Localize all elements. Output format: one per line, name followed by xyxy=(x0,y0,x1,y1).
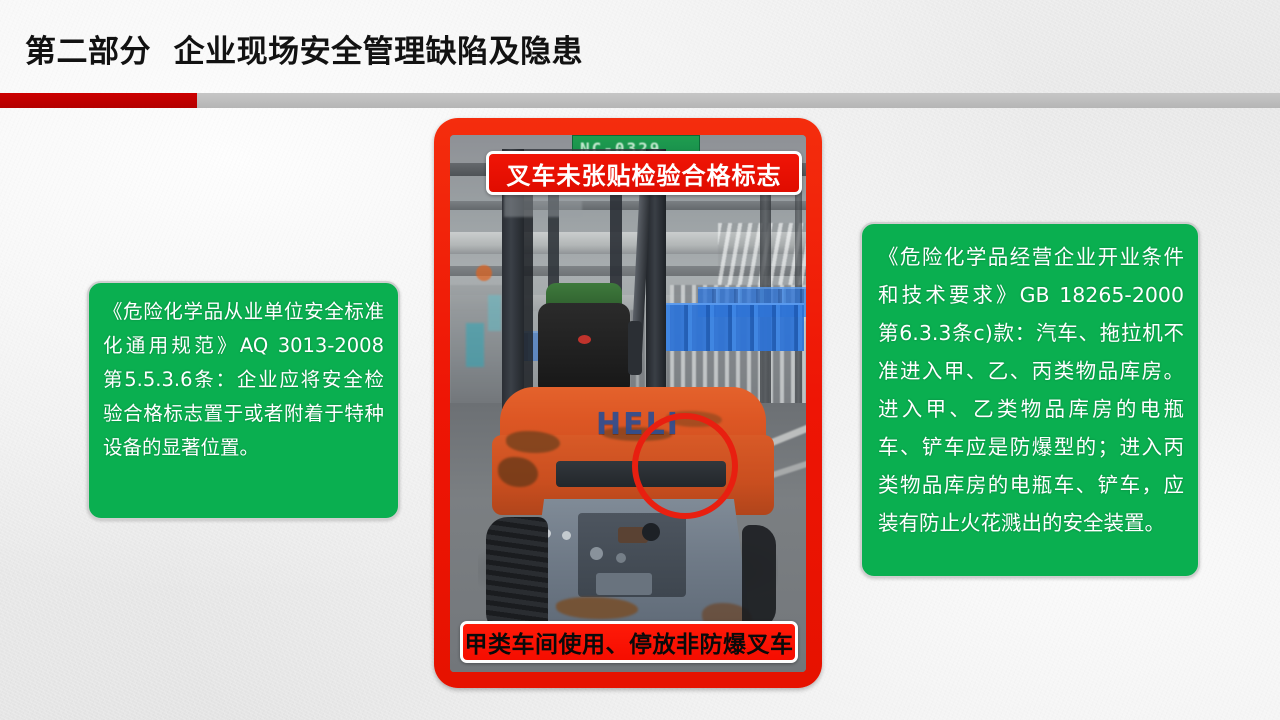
forklift-tire-left xyxy=(486,517,548,635)
callout-right-text: 《危险化学品经营企业开业条件和技术要求》GB 18265-2000 第6.3.3… xyxy=(862,224,1198,550)
photo-frame: NC-0329 xyxy=(434,118,822,688)
chassis-marker xyxy=(562,531,571,540)
callout-box-left: 《危险化学品从业单位安全标准化通用规范》AQ 3013-2008 第5.5.3.… xyxy=(87,281,400,520)
control-lever xyxy=(628,321,642,375)
red-highlight-circle xyxy=(632,413,738,519)
rust-patch xyxy=(506,431,560,453)
seat-emblem xyxy=(578,335,591,344)
header-divider xyxy=(0,93,1280,108)
photo-bottom-caption-text: 甲类车间使用、停放非防爆叉车 xyxy=(465,625,794,659)
callout-box-right: 《危险化学品经营企业开业条件和技术要求》GB 18265-2000 第6.3.3… xyxy=(860,222,1200,578)
chassis-bolt xyxy=(590,547,603,560)
photo-bottom-caption: 甲类车间使用、停放非防爆叉车 xyxy=(460,621,798,663)
slide-canvas: 第二部分 企业现场安全管理缺陷及隐患 《危险化学品从业单位安全标准化通用规范》A… xyxy=(0,0,1280,720)
hitch-pin xyxy=(642,523,660,541)
blue-drum-stack xyxy=(648,303,804,351)
forklift-tire-right xyxy=(742,525,776,629)
background-equipment xyxy=(476,265,492,281)
photo-top-caption-text: 叉车未张贴检验合格标志 xyxy=(507,156,782,191)
chassis-plate xyxy=(596,573,652,595)
divider-gray-segment xyxy=(197,93,1280,108)
rust-patch xyxy=(556,597,638,619)
chassis-bolt xyxy=(616,553,626,563)
divider-red-segment xyxy=(0,93,197,108)
background-equipment xyxy=(488,295,501,331)
background-equipment xyxy=(466,323,484,367)
page-title: 第二部分 企业现场安全管理缺陷及隐患 xyxy=(25,26,583,71)
photo-top-caption: 叉车未张贴检验合格标志 xyxy=(486,151,802,195)
forklift-photo: NC-0329 xyxy=(450,135,806,672)
operator-seat xyxy=(538,303,630,393)
callout-left-text: 《危险化学品从业单位安全标准化通用规范》AQ 3013-2008 第5.5.3.… xyxy=(89,283,398,473)
